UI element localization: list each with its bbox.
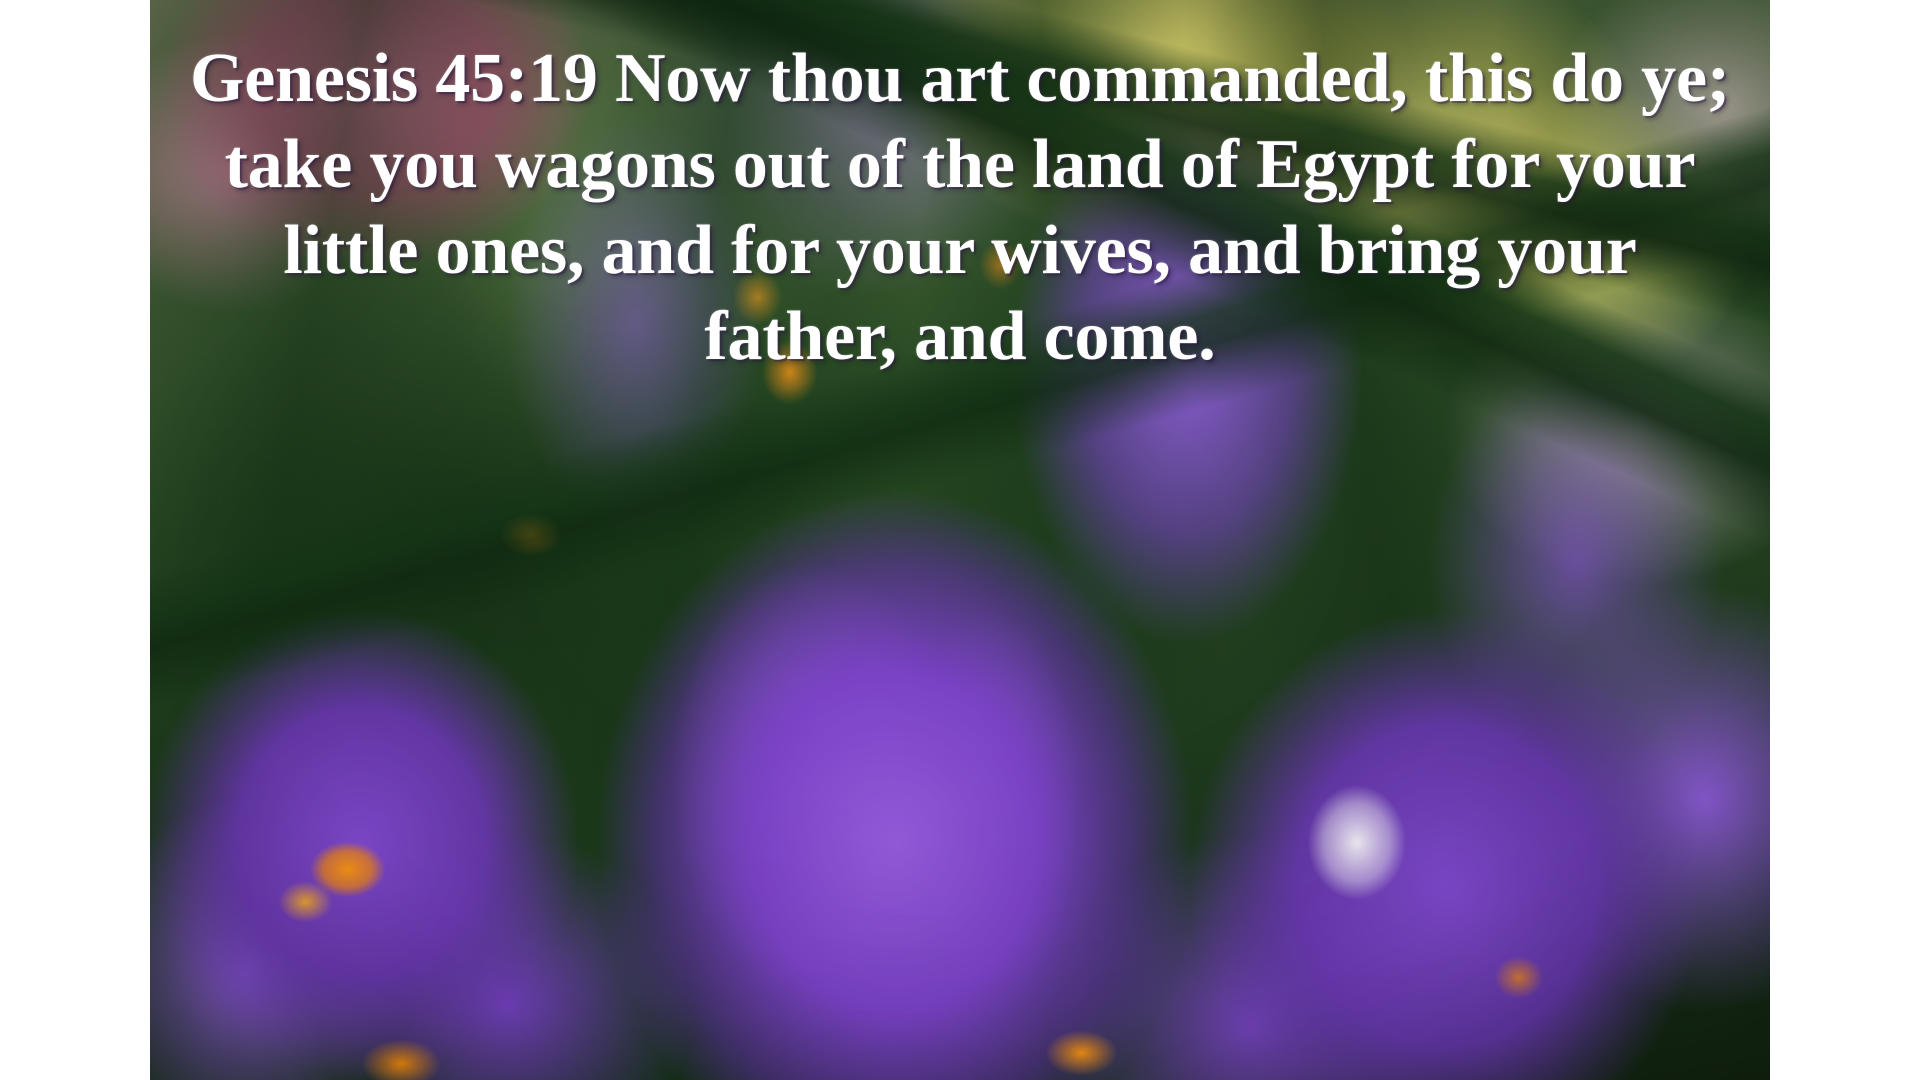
verse-image-card: Genesis 45:19 Now thou art commanded, th…: [150, 0, 1770, 1080]
screenshot-stage: Genesis 45:19 Now thou art commanded, th…: [0, 0, 1920, 1080]
bible-verse-text: Genesis 45:19 Now thou art commanded, th…: [180, 36, 1740, 380]
